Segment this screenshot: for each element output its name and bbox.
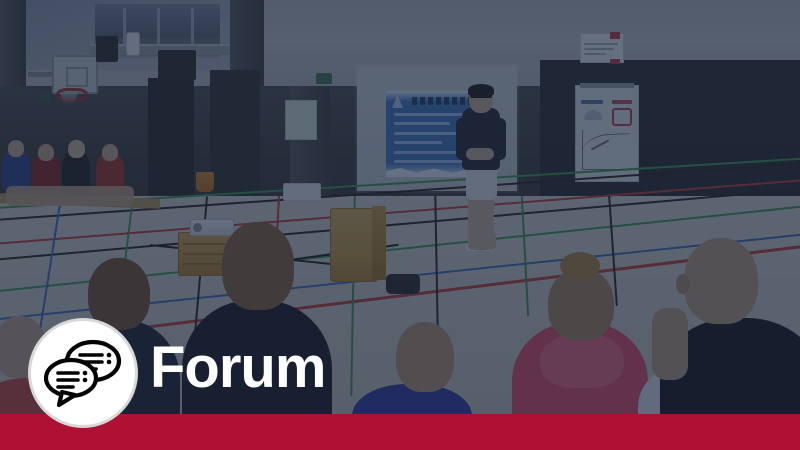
- bottom-accent-bar: [0, 414, 800, 450]
- forum-banner: Forum: [0, 0, 800, 450]
- page-title: Forum: [150, 339, 325, 397]
- forum-badge: [28, 318, 138, 428]
- speech-bubbles-icon: [44, 338, 122, 408]
